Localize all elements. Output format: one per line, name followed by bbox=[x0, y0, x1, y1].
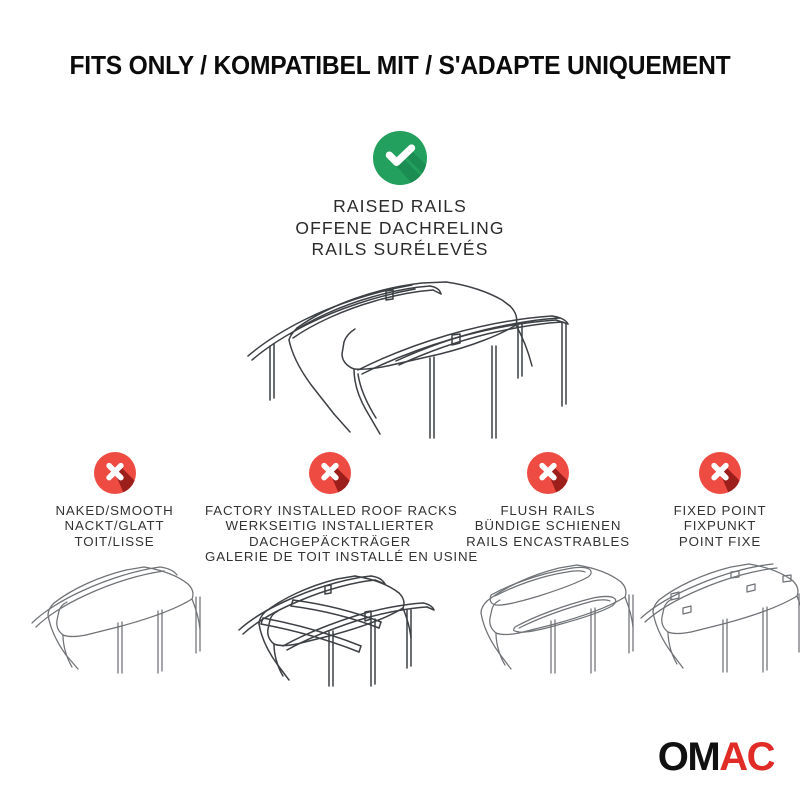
car-roof-with-flush-rails-illustration bbox=[453, 555, 643, 677]
x-glyph bbox=[527, 452, 569, 494]
caption-line-fr: RAILS SURÉLEVÉS bbox=[0, 239, 800, 261]
x-glyph bbox=[309, 452, 351, 494]
option-flush-rails: FLUSH RAILS BÜNDIGE SCHIENEN RAILS ENCAS… bbox=[455, 452, 641, 549]
x-circle-icon bbox=[94, 452, 136, 494]
option-fixed-point: FIXED POINT FIXPUNKT POINT FIXE bbox=[640, 452, 800, 549]
caption-line-en: FLUSH RAILS bbox=[455, 503, 641, 518]
caption-line-en: NAKED/SMOOTH bbox=[22, 503, 207, 518]
caption-line-de-2: DACHGEPÄCKTRÄGER bbox=[205, 534, 455, 549]
caption-line-fr: POINT FIXE bbox=[640, 534, 800, 549]
car-roof-with-factory-crossbars-illustration bbox=[221, 564, 439, 689]
option-factory-roof-racks: FACTORY INSTALLED ROOF RACKS WERKSEITIG … bbox=[205, 452, 455, 565]
x-glyph bbox=[94, 452, 136, 494]
incompatible-section: NAKED/SMOOTH NACKT/GLATT TOIT/LISSE bbox=[0, 452, 800, 692]
option-caption: FACTORY INSTALLED ROOF RACKS WERKSEITIG … bbox=[205, 503, 455, 565]
caption-line-fr: RAILS ENCASTRABLES bbox=[455, 534, 641, 549]
caption-line-fr: TOIT/LISSE bbox=[22, 534, 207, 549]
compatible-caption: RAISED RAILS OFFENE DACHRELING RAILS SUR… bbox=[0, 196, 800, 261]
caption-line-de: BÜNDIGE SCHIENEN bbox=[455, 518, 641, 533]
check-circle-icon bbox=[373, 131, 427, 185]
x-glyph bbox=[699, 452, 741, 494]
caption-line-de: NACKT/GLATT bbox=[22, 518, 207, 533]
car-roof-with-fixed-points-illustration bbox=[627, 552, 800, 676]
car-roof-with-raised-rails-illustration bbox=[200, 278, 600, 443]
caption-line-de-1: WERKSEITIG INSTALLIERTER bbox=[205, 518, 455, 533]
omac-logo: OM AC bbox=[658, 740, 774, 774]
option-caption: FIXED POINT FIXPUNKT POINT FIXE bbox=[640, 503, 800, 549]
caption-line-en: FIXED POINT bbox=[640, 503, 800, 518]
option-caption: FLUSH RAILS BÜNDIGE SCHIENEN RAILS ENCAS… bbox=[455, 503, 641, 549]
caption-line-en: RAISED RAILS bbox=[0, 196, 800, 218]
caption-line-de: FIXPUNKT bbox=[640, 518, 800, 533]
compatible-section: RAISED RAILS OFFENE DACHRELING RAILS SUR… bbox=[0, 131, 800, 261]
x-circle-icon bbox=[309, 452, 351, 494]
caption-line-fr: GALERIE DE TOIT INSTALLÉ EN USINE bbox=[205, 549, 455, 564]
logo-text-dark: OM bbox=[658, 740, 719, 774]
car-roof-naked-smooth-illustration bbox=[20, 557, 210, 677]
logo-text-red: AC bbox=[719, 740, 774, 774]
x-circle-icon bbox=[527, 452, 569, 494]
x-circle-icon bbox=[699, 452, 741, 494]
check-glyph bbox=[373, 131, 427, 185]
option-caption: NAKED/SMOOTH NACKT/GLATT TOIT/LISSE bbox=[22, 503, 207, 549]
caption-line-de: OFFENE DACHRELING bbox=[0, 218, 800, 240]
option-naked-smooth: NAKED/SMOOTH NACKT/GLATT TOIT/LISSE bbox=[22, 452, 207, 549]
caption-line-en: FACTORY INSTALLED ROOF RACKS bbox=[205, 503, 455, 518]
page-title: FITS ONLY / KOMPATIBEL MIT / S'ADAPTE UN… bbox=[14, 52, 786, 81]
